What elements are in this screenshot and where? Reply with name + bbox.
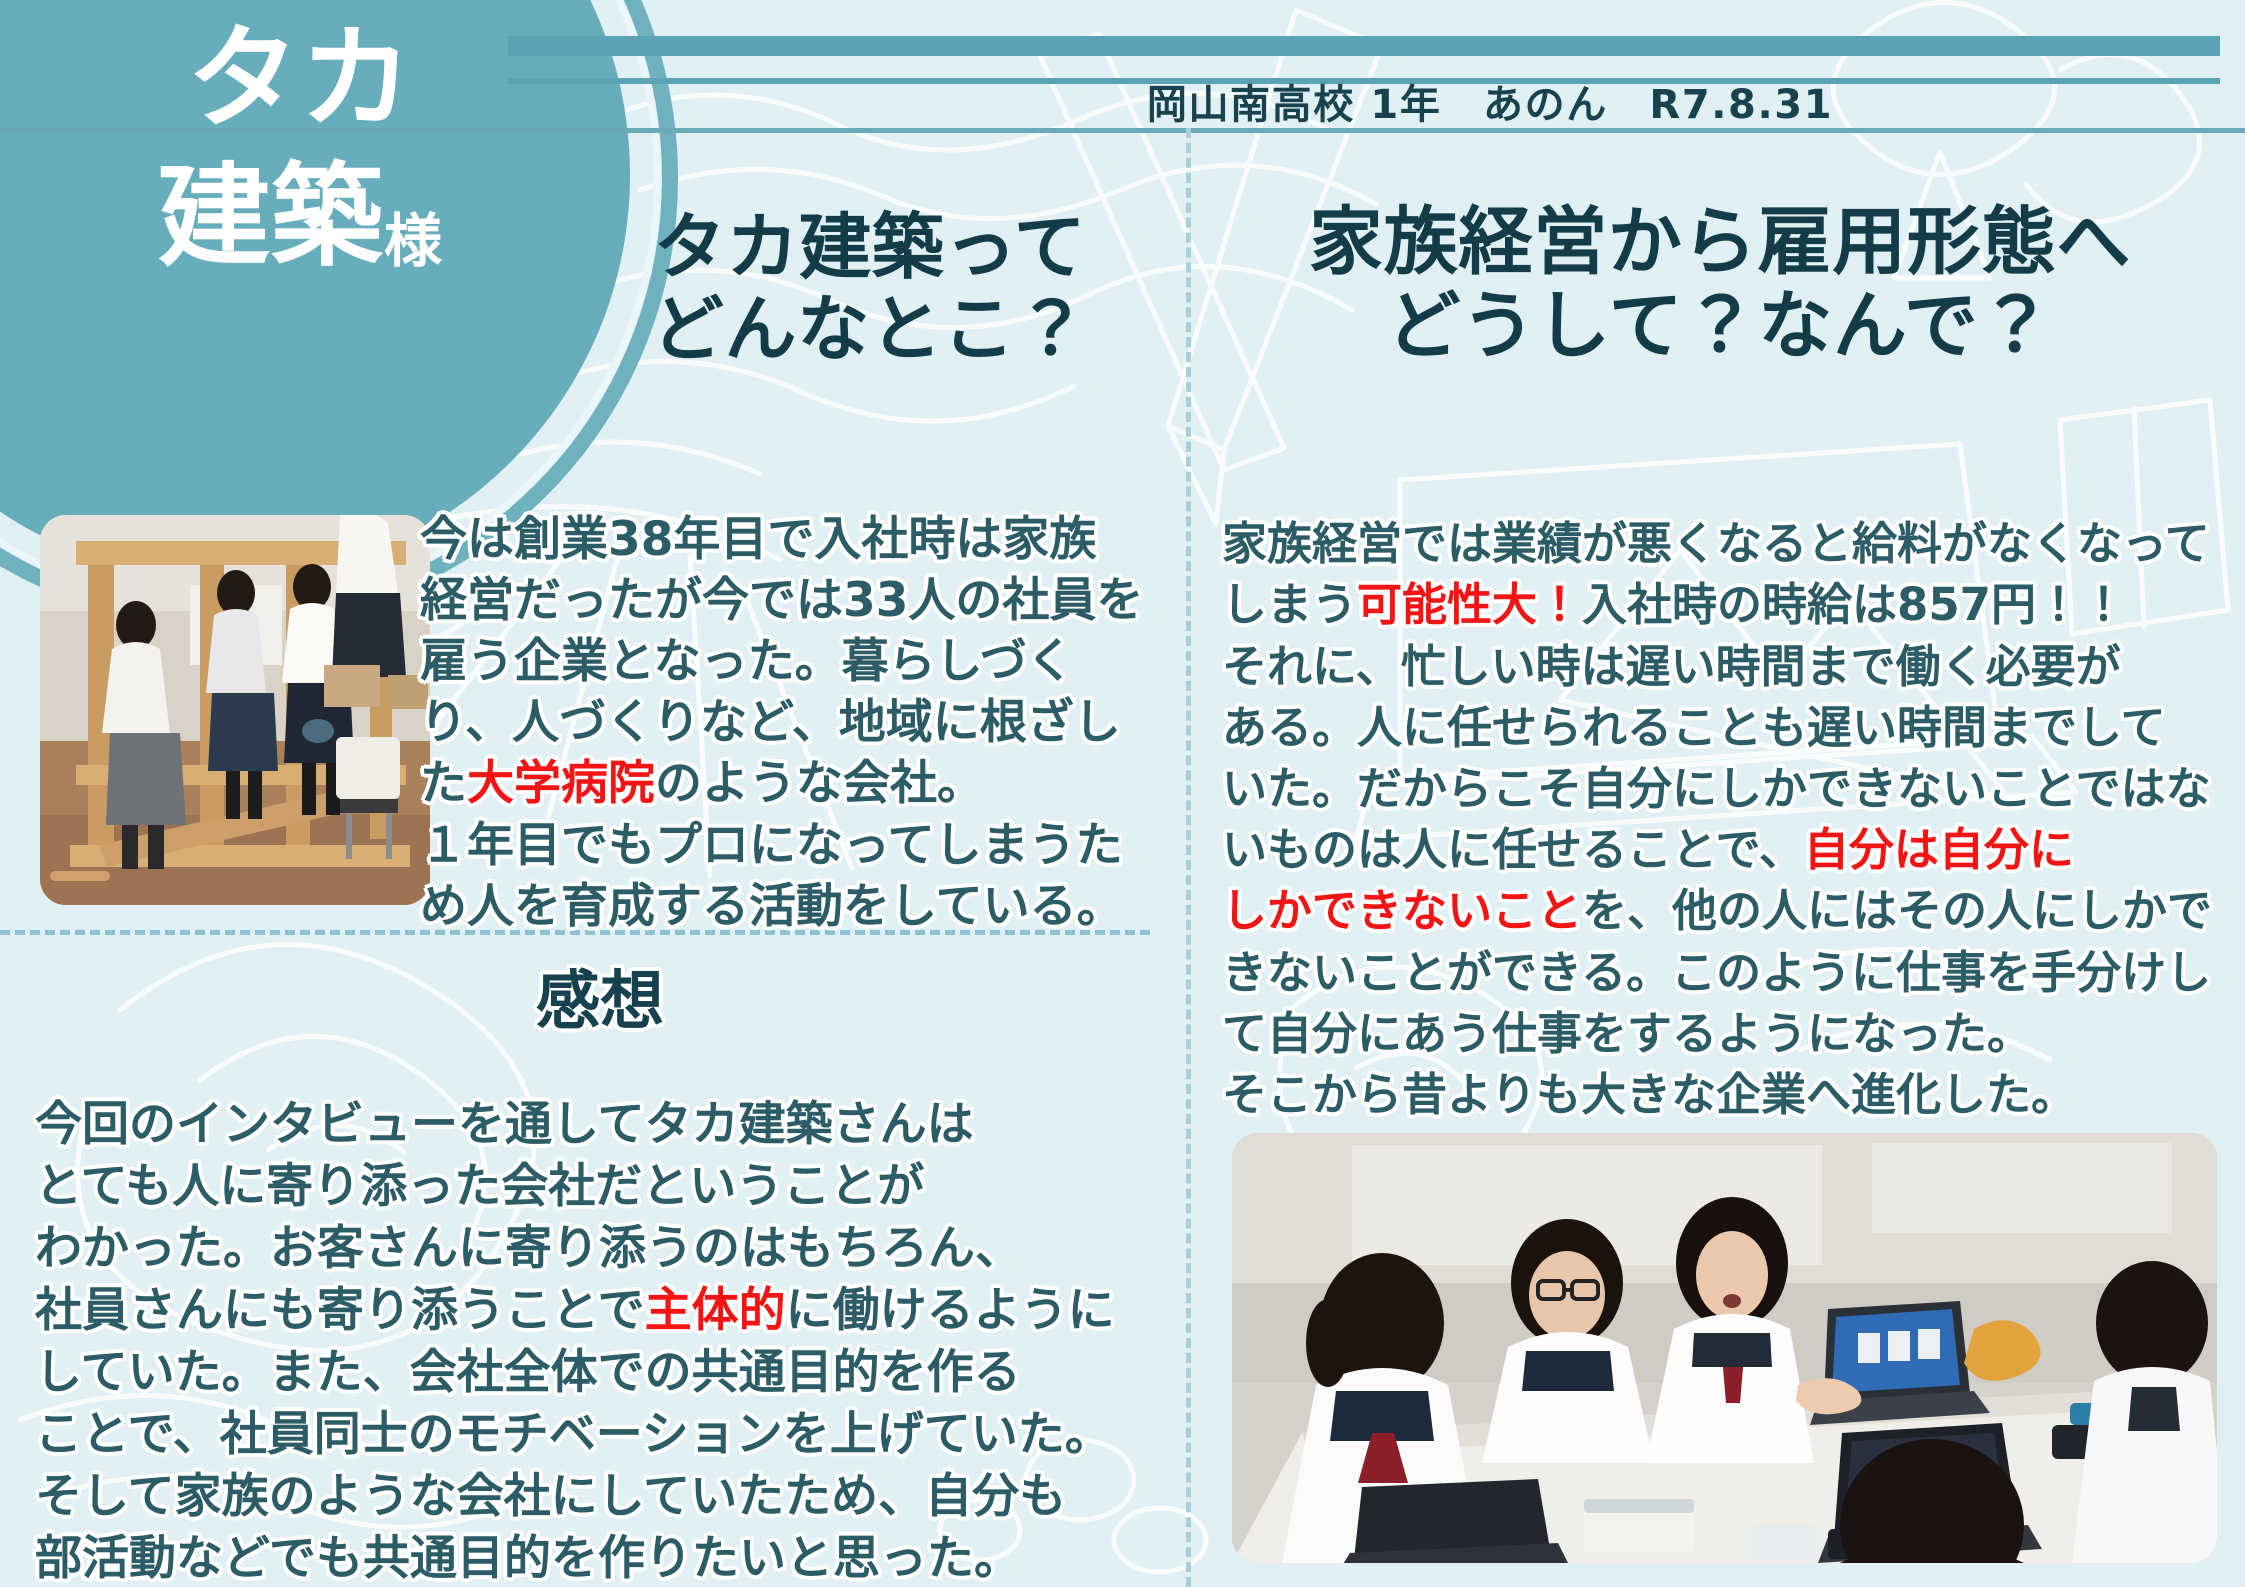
poster-page: タカ 建築様 岡山南高校 1年 あのん R7.8.31 タカ建築って どんなとこ… [0, 0, 2245, 1587]
left-column-heading: タカ建築って どんなとこ？ [560, 206, 1180, 370]
left-body-highlight: 大学病院 [467, 756, 655, 811]
construction-workshop-photo [40, 515, 430, 905]
header-rule-thick [508, 36, 2220, 56]
byline: 岡山南高校 1年 あのん R7.8.31 [760, 72, 2220, 130]
right-body-highlight-1: 可能性大！ [1357, 578, 1582, 631]
column-dashed-divider [1186, 128, 1191, 1587]
interview-meeting-photo [1232, 1133, 2217, 1563]
company-name-line1: タカ [70, 22, 530, 136]
right-column-body: 家族経営では業績が悪くなると給料がなくなって しまう可能性大！入社時の時給は85… [1222, 452, 2232, 1125]
company-honorific: 様 [384, 207, 442, 275]
left-column-body: 今は創業38年目で入社時は家族 経営だったが今では33人の社員を 雇う企業となっ… [420, 448, 1160, 937]
right-column-heading: 家族経営から雇用形態へ どうして？なんで？ [1215, 200, 2225, 369]
impressions-body: 今回のインタビューを通してタカ建築さんは とても人に寄り添った会社だということが… [35, 1032, 1165, 1587]
company-badge-text: タカ 建築様 [70, 22, 530, 274]
impressions-highlight: 主体的 [645, 1283, 786, 1338]
company-name-line2: 建築様 [70, 160, 530, 274]
impressions-heading: 感想 [470, 950, 730, 1042]
